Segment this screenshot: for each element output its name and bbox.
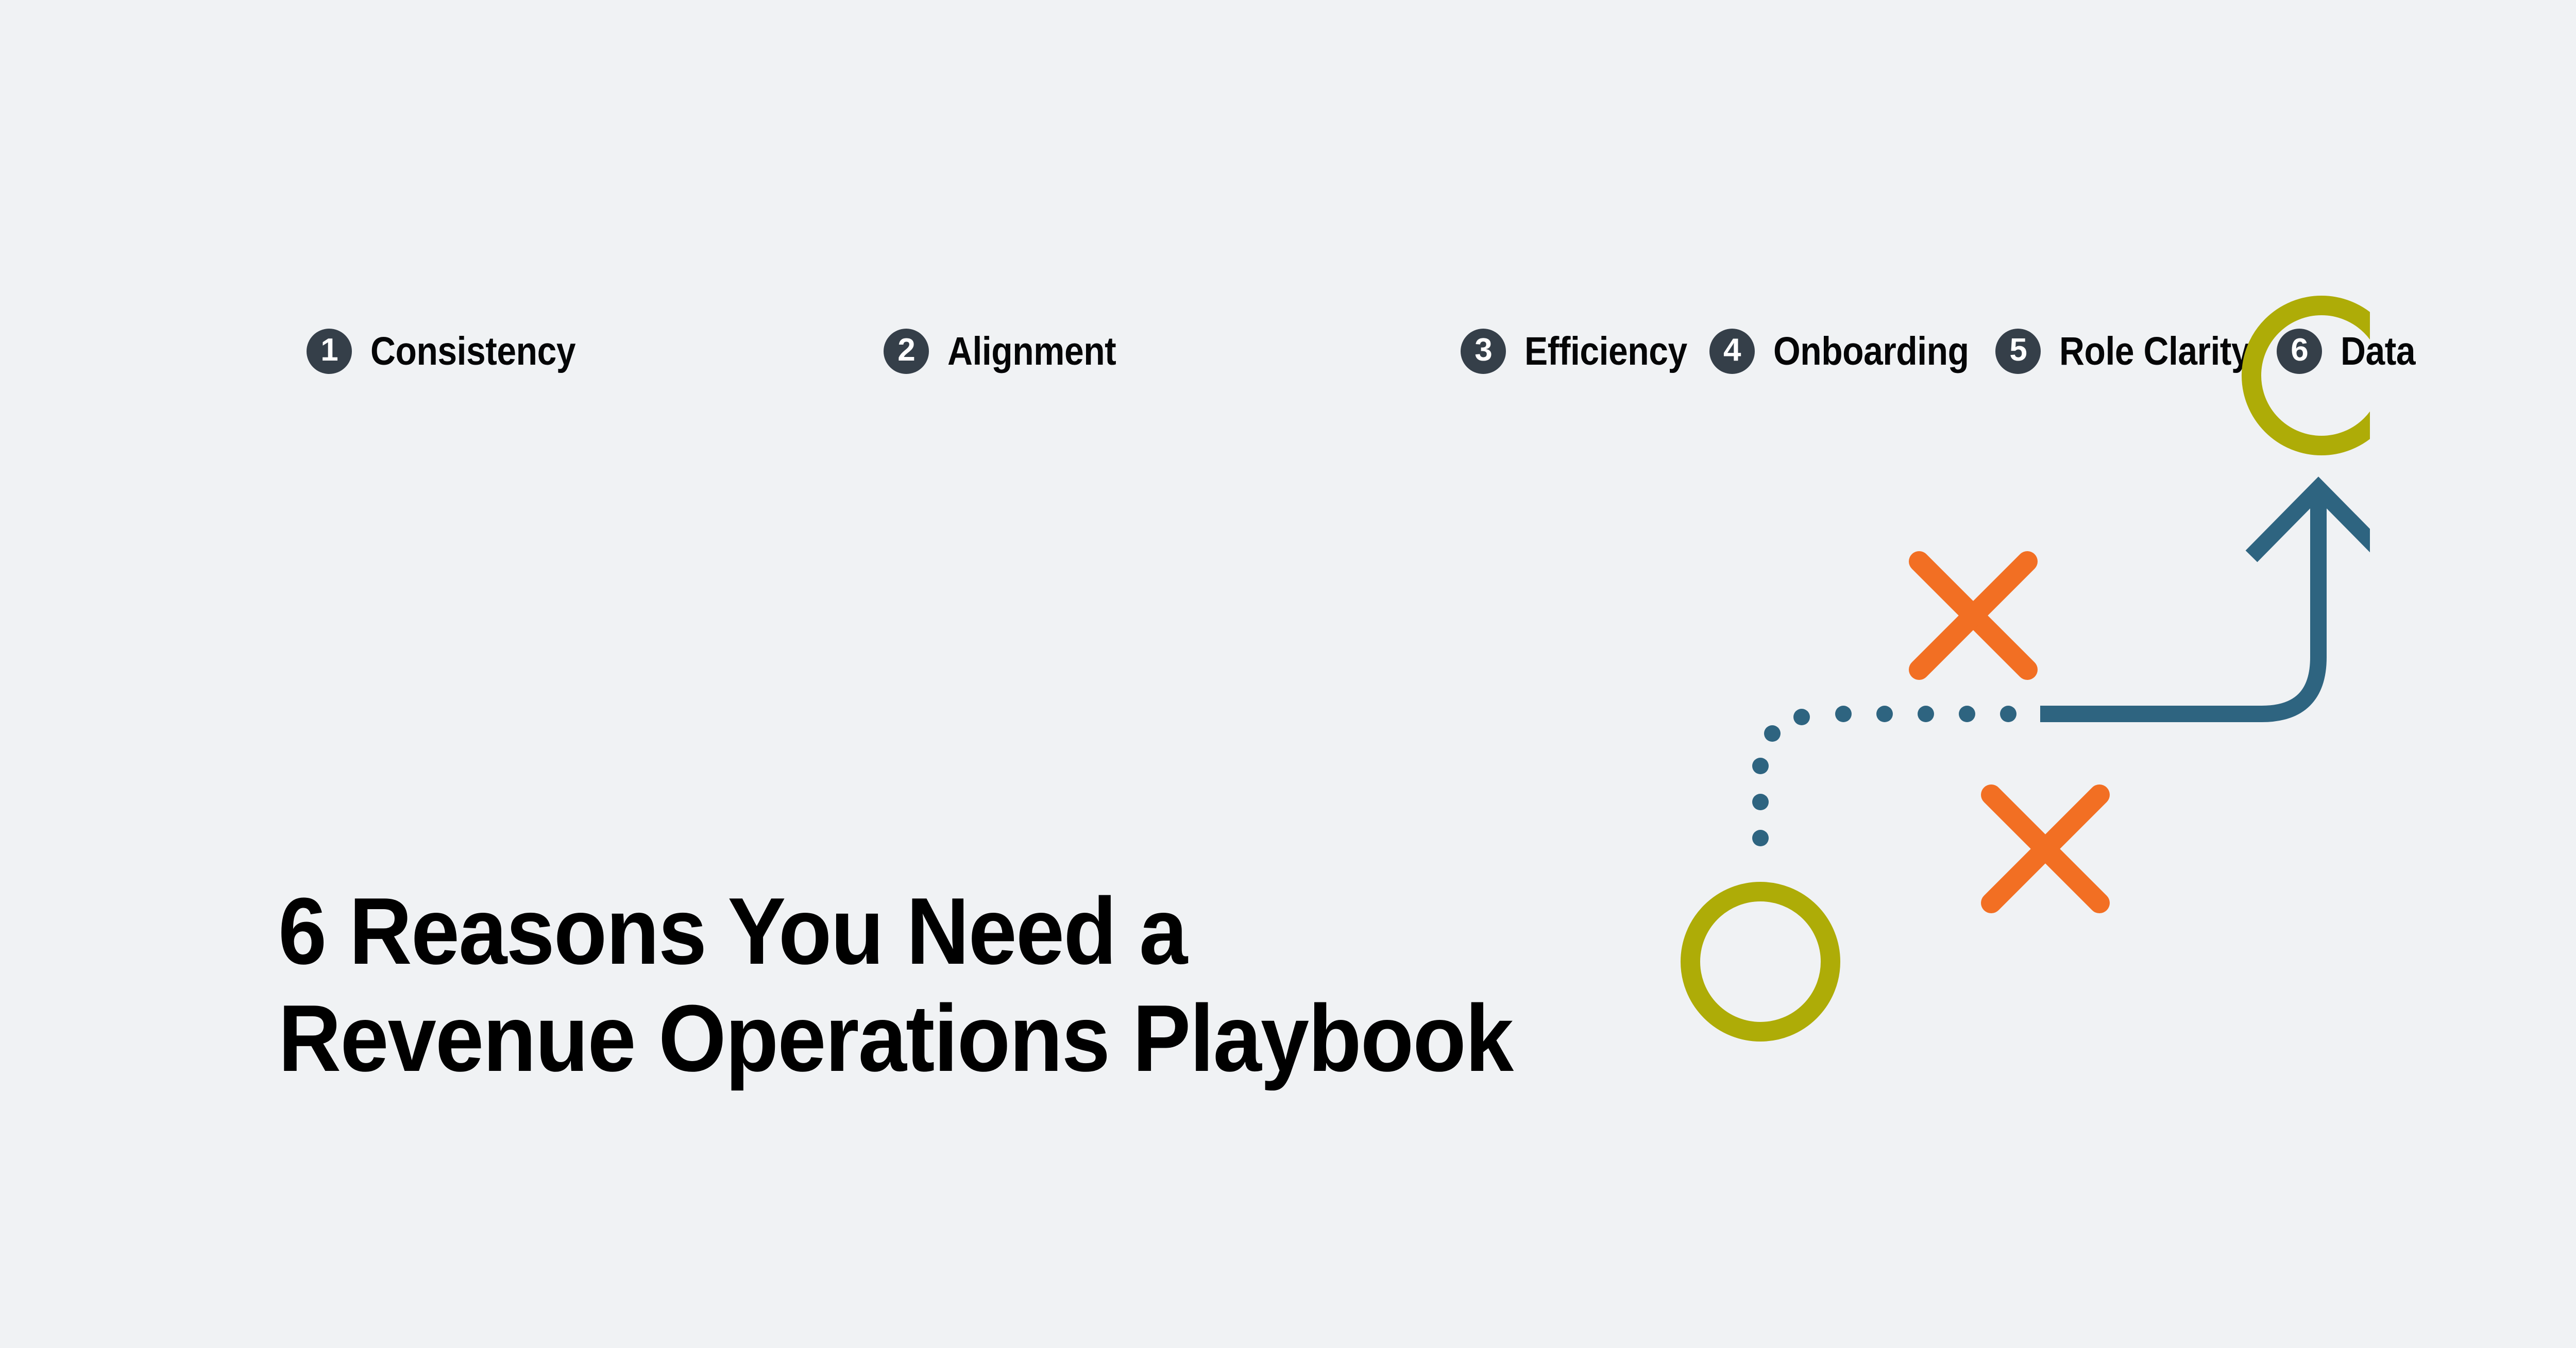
obstacle-x-lower-icon — [1991, 795, 2099, 903]
list-item: 2 Alignment — [884, 325, 1461, 378]
strategy-playbook-illustration — [1649, 258, 2370, 1082]
obstacle-x-upper-icon — [1919, 561, 2027, 670]
poster-canvas: 1 Consistency 2 Alignment 3 Efficiency 4… — [0, 0, 2576, 1348]
reason-number-badge: 1 — [307, 329, 352, 374]
dotted-path-icon — [1752, 706, 2016, 846]
page-title: 6 Reasons You Need a Revenue Operations … — [278, 877, 1558, 1091]
start-circle-icon — [1690, 892, 1831, 1032]
reason-number-badge: 2 — [884, 329, 929, 374]
page-title-line-2: Revenue Operations Playbook — [278, 984, 1558, 1091]
reason-label: Alignment — [947, 332, 1116, 371]
page-title-line-1: 6 Reasons You Need a — [278, 877, 1558, 984]
illustration-svg — [1649, 258, 2370, 1082]
reason-number-badge: 3 — [1461, 329, 1506, 374]
reason-list: 1 Consistency 2 Alignment 3 Efficiency 4… — [307, 325, 1388, 439]
goal-circle-icon — [2251, 305, 2370, 446]
list-item: 1 Consistency — [307, 325, 884, 378]
reason-label: Consistency — [370, 332, 575, 371]
